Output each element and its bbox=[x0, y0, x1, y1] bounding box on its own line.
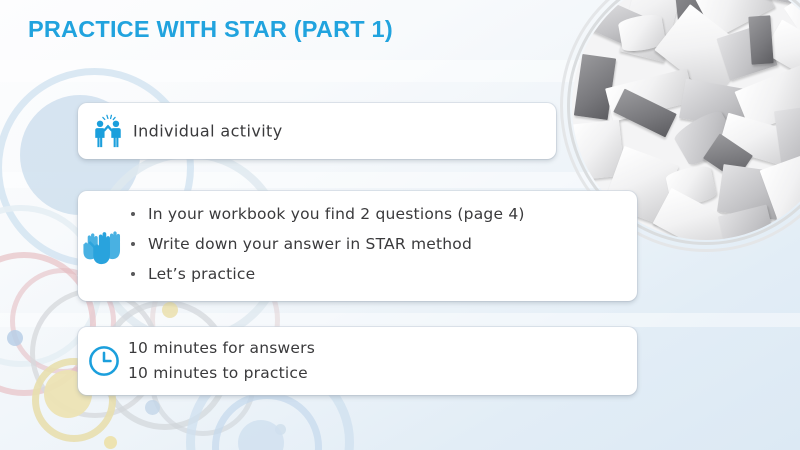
decorative-dot-yellow bbox=[162, 302, 178, 318]
activity-label: Individual activity bbox=[133, 122, 283, 141]
instructions-card: In your workbook you find 2 questions (p… bbox=[78, 191, 637, 301]
slide-title: PRACTICE WITH STAR (PART 1) bbox=[28, 16, 393, 43]
instructions-bullet-list: In your workbook you find 2 questions (p… bbox=[126, 199, 525, 289]
decorative-dot-yellow bbox=[104, 436, 117, 449]
list-item: Write down your answer in STAR method bbox=[126, 229, 525, 259]
decorative-dot-blue bbox=[145, 400, 160, 415]
two-people-high-five-icon bbox=[90, 113, 126, 149]
timing-card: 10 minutes for answers 10 minutes to pra… bbox=[78, 327, 637, 395]
timing-line: 10 minutes for answers bbox=[128, 336, 315, 361]
activity-card: Individual activity bbox=[78, 103, 556, 159]
raised-hands-icon bbox=[76, 220, 128, 272]
decorative-dot-blue bbox=[7, 330, 23, 346]
timing-line: 10 minutes to practice bbox=[128, 361, 315, 386]
slide: PRACTICE WITH STAR (PART 1) Individual a… bbox=[0, 0, 800, 450]
timing-lines: 10 minutes for answers 10 minutes to pra… bbox=[128, 336, 315, 386]
clock-icon bbox=[87, 344, 121, 378]
list-item: Let’s practice bbox=[126, 259, 525, 289]
list-item: In your workbook you find 2 questions (p… bbox=[126, 199, 525, 229]
